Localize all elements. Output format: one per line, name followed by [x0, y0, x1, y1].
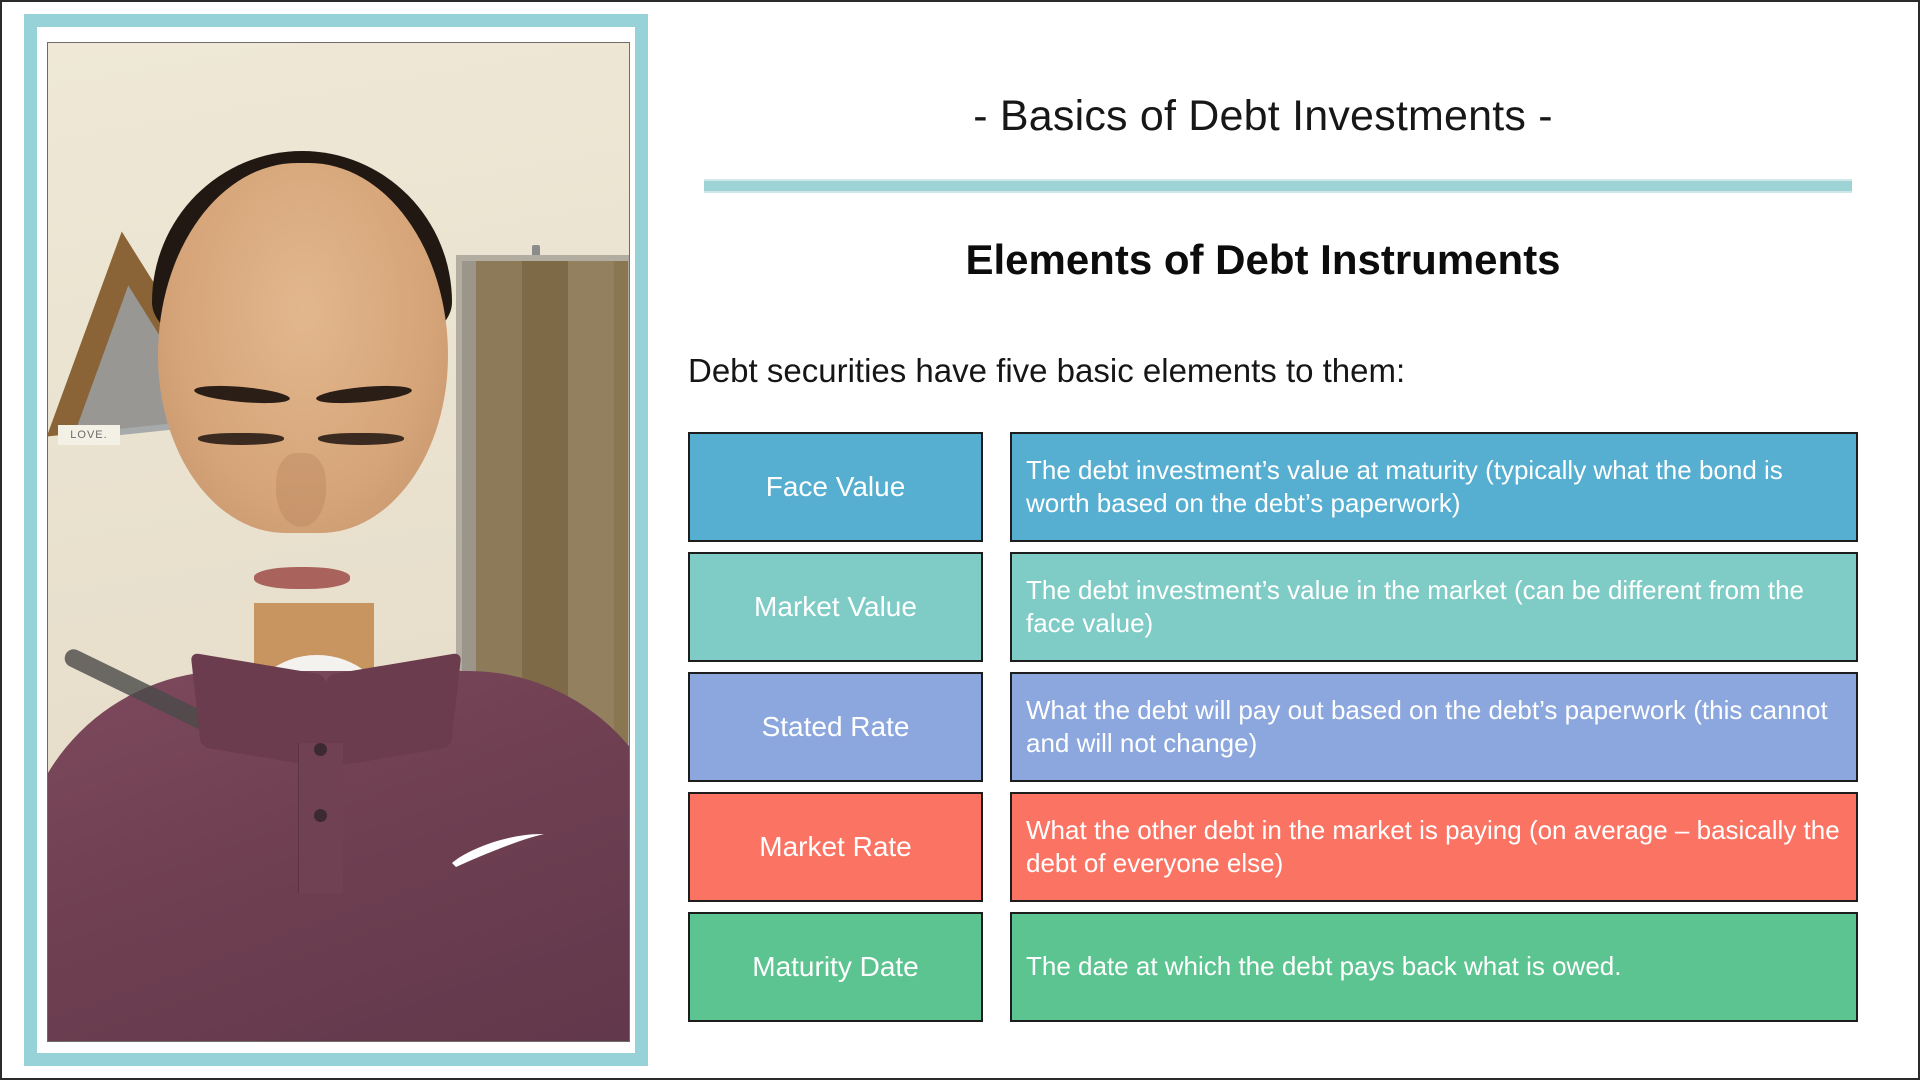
element-description-maturity-date[interactable]: The date at which the debt pays back wha…	[1010, 912, 1858, 1022]
title-divider-rule	[704, 179, 1852, 193]
shirt-button-top	[314, 743, 327, 756]
wall-decor-sign-label: LOVE.	[58, 425, 120, 445]
slide-content-area: - Basics of Debt Investments - Elements …	[648, 14, 1898, 1066]
shirt-button-bottom	[314, 809, 327, 822]
table-row: Maturity Date The date at which the debt…	[688, 912, 1858, 1022]
element-label-market-value[interactable]: Market Value	[688, 552, 983, 662]
element-label-stated-rate[interactable]: Stated Rate	[688, 672, 983, 782]
presenter-mouth	[254, 567, 350, 589]
lead-text: Debt securities have five basic elements…	[688, 352, 1848, 390]
presenter-nose	[276, 453, 326, 527]
table-row: Stated Rate What the debt will pay out b…	[688, 672, 1858, 782]
element-description-face-value[interactable]: The debt investment’s value at maturity …	[1010, 432, 1858, 542]
section-heading: Elements of Debt Instruments	[648, 236, 1878, 284]
element-description-market-value[interactable]: The debt investment’s value in the marke…	[1010, 552, 1858, 662]
element-description-stated-rate[interactable]: What the debt will pay out based on the …	[1010, 672, 1858, 782]
slide-title: - Basics of Debt Investments -	[648, 92, 1878, 141]
panel-divider	[635, 14, 648, 1066]
presenter-eye-right	[318, 433, 404, 445]
presenter-eye-left	[198, 433, 284, 445]
element-description-market-rate[interactable]: What the other debt in the market is pay…	[1010, 792, 1858, 902]
element-label-face-value[interactable]: Face Value	[688, 432, 983, 542]
table-row: Face Value The debt investment’s value a…	[688, 432, 1858, 542]
table-row: Market Rate What the other debt in the m…	[688, 792, 1858, 902]
nike-swoosh-icon	[448, 833, 548, 871]
table-row: Market Value The debt investment’s value…	[688, 552, 1858, 662]
elements-table: Face Value The debt investment’s value a…	[688, 432, 1858, 1032]
element-label-maturity-date[interactable]: Maturity Date	[688, 912, 983, 1022]
presenter-webcam-feed[interactable]: LOVE.	[47, 42, 630, 1042]
slide-root: LOVE. - Basics of Debt Investments - Ele…	[0, 0, 1920, 1080]
element-label-market-rate[interactable]: Market Rate	[688, 792, 983, 902]
